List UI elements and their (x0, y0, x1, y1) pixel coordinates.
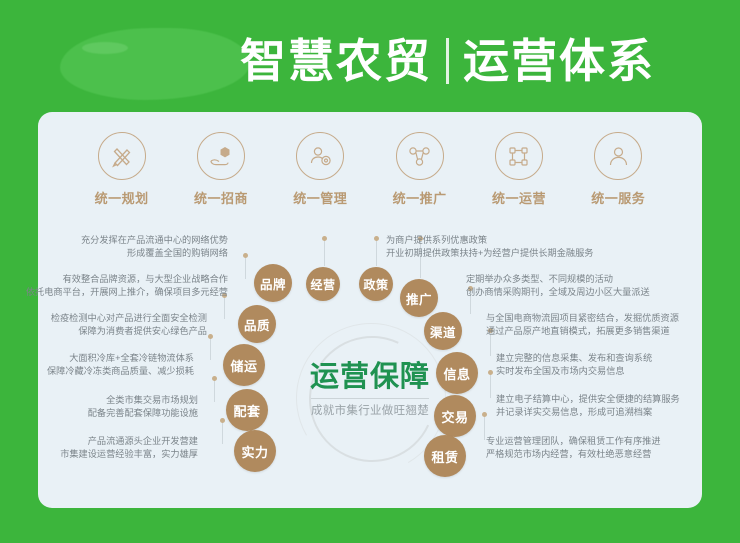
pencil-ruler-icon (98, 132, 146, 180)
desc-line-2: 形成覆盖全国的购销网络 (28, 247, 228, 260)
capability-item-service[interactable]: 统一服务 (572, 132, 664, 207)
desc-line-2: 实时发布全国及市场内交易信息 (496, 365, 726, 378)
desc-line-2: 创办商情采购期刊，全域及周边小区大量派送 (466, 286, 706, 299)
desc-line-1: 专业运营管理团队，确保租赁工作有序推进 (486, 435, 726, 448)
capability-label: 统一规划 (95, 188, 149, 207)
desc-line-1: 有效整合品牌资源，与大型企业战略合作 (18, 273, 228, 286)
desc-line-1: 与全国电商物流园项目紧密结合，发掘优质资源 (486, 312, 731, 325)
connector-quality (224, 297, 225, 319)
connector-policy (376, 240, 377, 266)
capability-item-planning[interactable]: 统一规划 (76, 132, 168, 207)
unified-capability-row: 统一规划 商 统一招商 统一管理 (38, 132, 702, 218)
person-service-icon (594, 132, 642, 180)
desc-quality: 检疫检测中心对产品进行全面安全检测 保障为消费者提供安心绿色产品 (22, 312, 207, 338)
node-brand[interactable]: 品牌 (254, 264, 292, 302)
capability-label: 统一招商 (194, 188, 248, 207)
node-channel[interactable]: 渠道 (424, 312, 462, 350)
desc-line-2: 依托电商平台，开展网上推介，确保项目多元经营 (18, 286, 228, 299)
node-support[interactable]: 配套 (226, 389, 268, 431)
network-share-icon (396, 132, 444, 180)
capability-item-investment[interactable]: 商 统一招商 (175, 132, 267, 207)
desc-line-1: 定期举办众多类型、不同规模的活动 (466, 273, 706, 286)
desc-line-2: 并记录详实交易信息，形成可追溯档案 (496, 406, 736, 419)
capability-item-management[interactable]: 统一管理 (274, 132, 366, 207)
connector-trade (490, 374, 491, 398)
desc-line-1: 全类市集交易市场规划 (22, 394, 198, 407)
node-information[interactable]: 信息 (436, 352, 478, 394)
header-title-group: 智慧农贸 运营体系 (240, 34, 655, 88)
desc-line-1: 充分发挥在产品流通中心的网络优势 (28, 234, 228, 247)
capability-label: 统一推广 (393, 188, 447, 207)
desc-line-2: 市集建设运营经验丰富，实力雄厚 (22, 448, 198, 461)
desc-lease: 专业运营管理团队，确保租赁工作有序推进 严格规范市场内经营，有效杜绝恶意经营 (486, 435, 726, 461)
connector-support (214, 380, 215, 402)
desc-support: 全类市集交易市场规划 配备完善配套保障功能设施 (22, 394, 198, 420)
desc-trade: 建立电子结算中心，提供安全便捷的结算服务 并记录详实交易信息，形成可追溯档案 (496, 393, 736, 419)
desc-line-2: 保障冷藏冷冻类商品质量、减少损耗 (22, 365, 194, 378)
desc-promotion: 定期举办众多类型、不同规模的活动 创办商情采购期刊，全域及周边小区大量派送 (466, 273, 706, 299)
node-quality[interactable]: 品质 (238, 305, 276, 343)
desc-line-1: 产品流通源头企业开发营建 (22, 435, 198, 448)
node-trade[interactable]: 交易 (434, 395, 476, 437)
node-lease[interactable]: 租赁 (424, 435, 466, 477)
node-promotion[interactable]: 推广 (400, 279, 438, 317)
desc-line-2: 严格规范市场内经营，有效杜绝恶意经营 (486, 448, 726, 461)
connector-storage (210, 338, 211, 360)
svg-text:商: 商 (222, 149, 228, 157)
hand-merchant-icon: 商 (197, 132, 245, 180)
node-strength[interactable]: 实力 (234, 430, 276, 472)
desc-brand: 有效整合品牌资源，与大型企业战略合作 依托电商平台，开展网上推介，确保项目多元经… (18, 273, 228, 299)
desc-operation: 充分发挥在产品流通中心的网络优势 形成覆盖全国的购销网络 (28, 234, 228, 260)
center-label-group: 运营保障 成就市集行业做旺翘楚 (290, 360, 450, 419)
node-storage[interactable]: 储运 (223, 344, 265, 386)
connector-strength (222, 422, 223, 444)
desc-line-1: 建立完整的信息采集、发布和查询系统 (496, 352, 726, 365)
desc-channel: 与全国电商物流园项目紧密结合，发掘优质资源 通过产品原产地直销模式，拓展更多销售… (486, 312, 731, 338)
desc-line-2: 保障为消费者提供安心绿色产品 (22, 325, 207, 338)
center-subtitle: 成就市集行业做旺翘楚 (311, 398, 429, 418)
nodes-grid-icon (495, 132, 543, 180)
desc-line-2: 开业初期提供政策扶持+为经营户提供长期金融服务 (386, 247, 646, 260)
desc-line-2: 通过产品原产地直销模式，拓展更多销售渠道 (486, 325, 731, 338)
header-title-main: 智慧农贸 (240, 34, 432, 88)
desc-line-1: 建立电子结算中心，提供安全便捷的结算服务 (496, 393, 736, 406)
capability-item-operation[interactable]: 统一运营 (473, 132, 565, 207)
connector-brand (245, 257, 246, 279)
node-operation[interactable]: 经营 (306, 267, 340, 301)
center-title: 运营保障 (290, 360, 450, 394)
desc-information: 建立完整的信息采集、发布和查询系统 实时发布全国及市场内交易信息 (496, 352, 726, 378)
desc-line-1: 大面积冷库+全套冷链物流体系 (22, 352, 194, 365)
desc-line-1: 为商户提供系列优惠政策 (386, 234, 646, 247)
capability-label: 统一运营 (492, 188, 546, 207)
node-policy[interactable]: 政策 (359, 267, 393, 301)
capability-item-promotion[interactable]: 统一推广 (374, 132, 466, 207)
title-divider (446, 38, 449, 84)
desc-line-1: 检疫检测中心对产品进行全面安全检测 (22, 312, 207, 325)
person-gear-icon (296, 132, 344, 180)
connector-operation (324, 240, 325, 266)
content-card: 统一规划 商 统一招商 统一管理 (38, 112, 702, 508)
desc-line-2: 配备完善配套保障功能设施 (22, 407, 198, 420)
connector-lease (484, 416, 485, 440)
capability-label: 统一管理 (293, 188, 347, 207)
header-title-sub: 运营体系 (463, 34, 655, 88)
desc-strength: 产品流通源头企业开发营建 市集建设运营经验丰富，实力雄厚 (22, 435, 198, 461)
page-header: 智慧农贸 运营体系 (0, 0, 740, 112)
capability-label: 统一服务 (591, 188, 645, 207)
brand-logo-icon (60, 28, 250, 100)
desc-storage: 大面积冷库+全套冷链物流体系 保障冷藏冷冻类商品质量、减少损耗 (22, 352, 194, 378)
desc-policy: 为商户提供系列优惠政策 开业初期提供政策扶持+为经营户提供长期金融服务 (386, 234, 646, 260)
